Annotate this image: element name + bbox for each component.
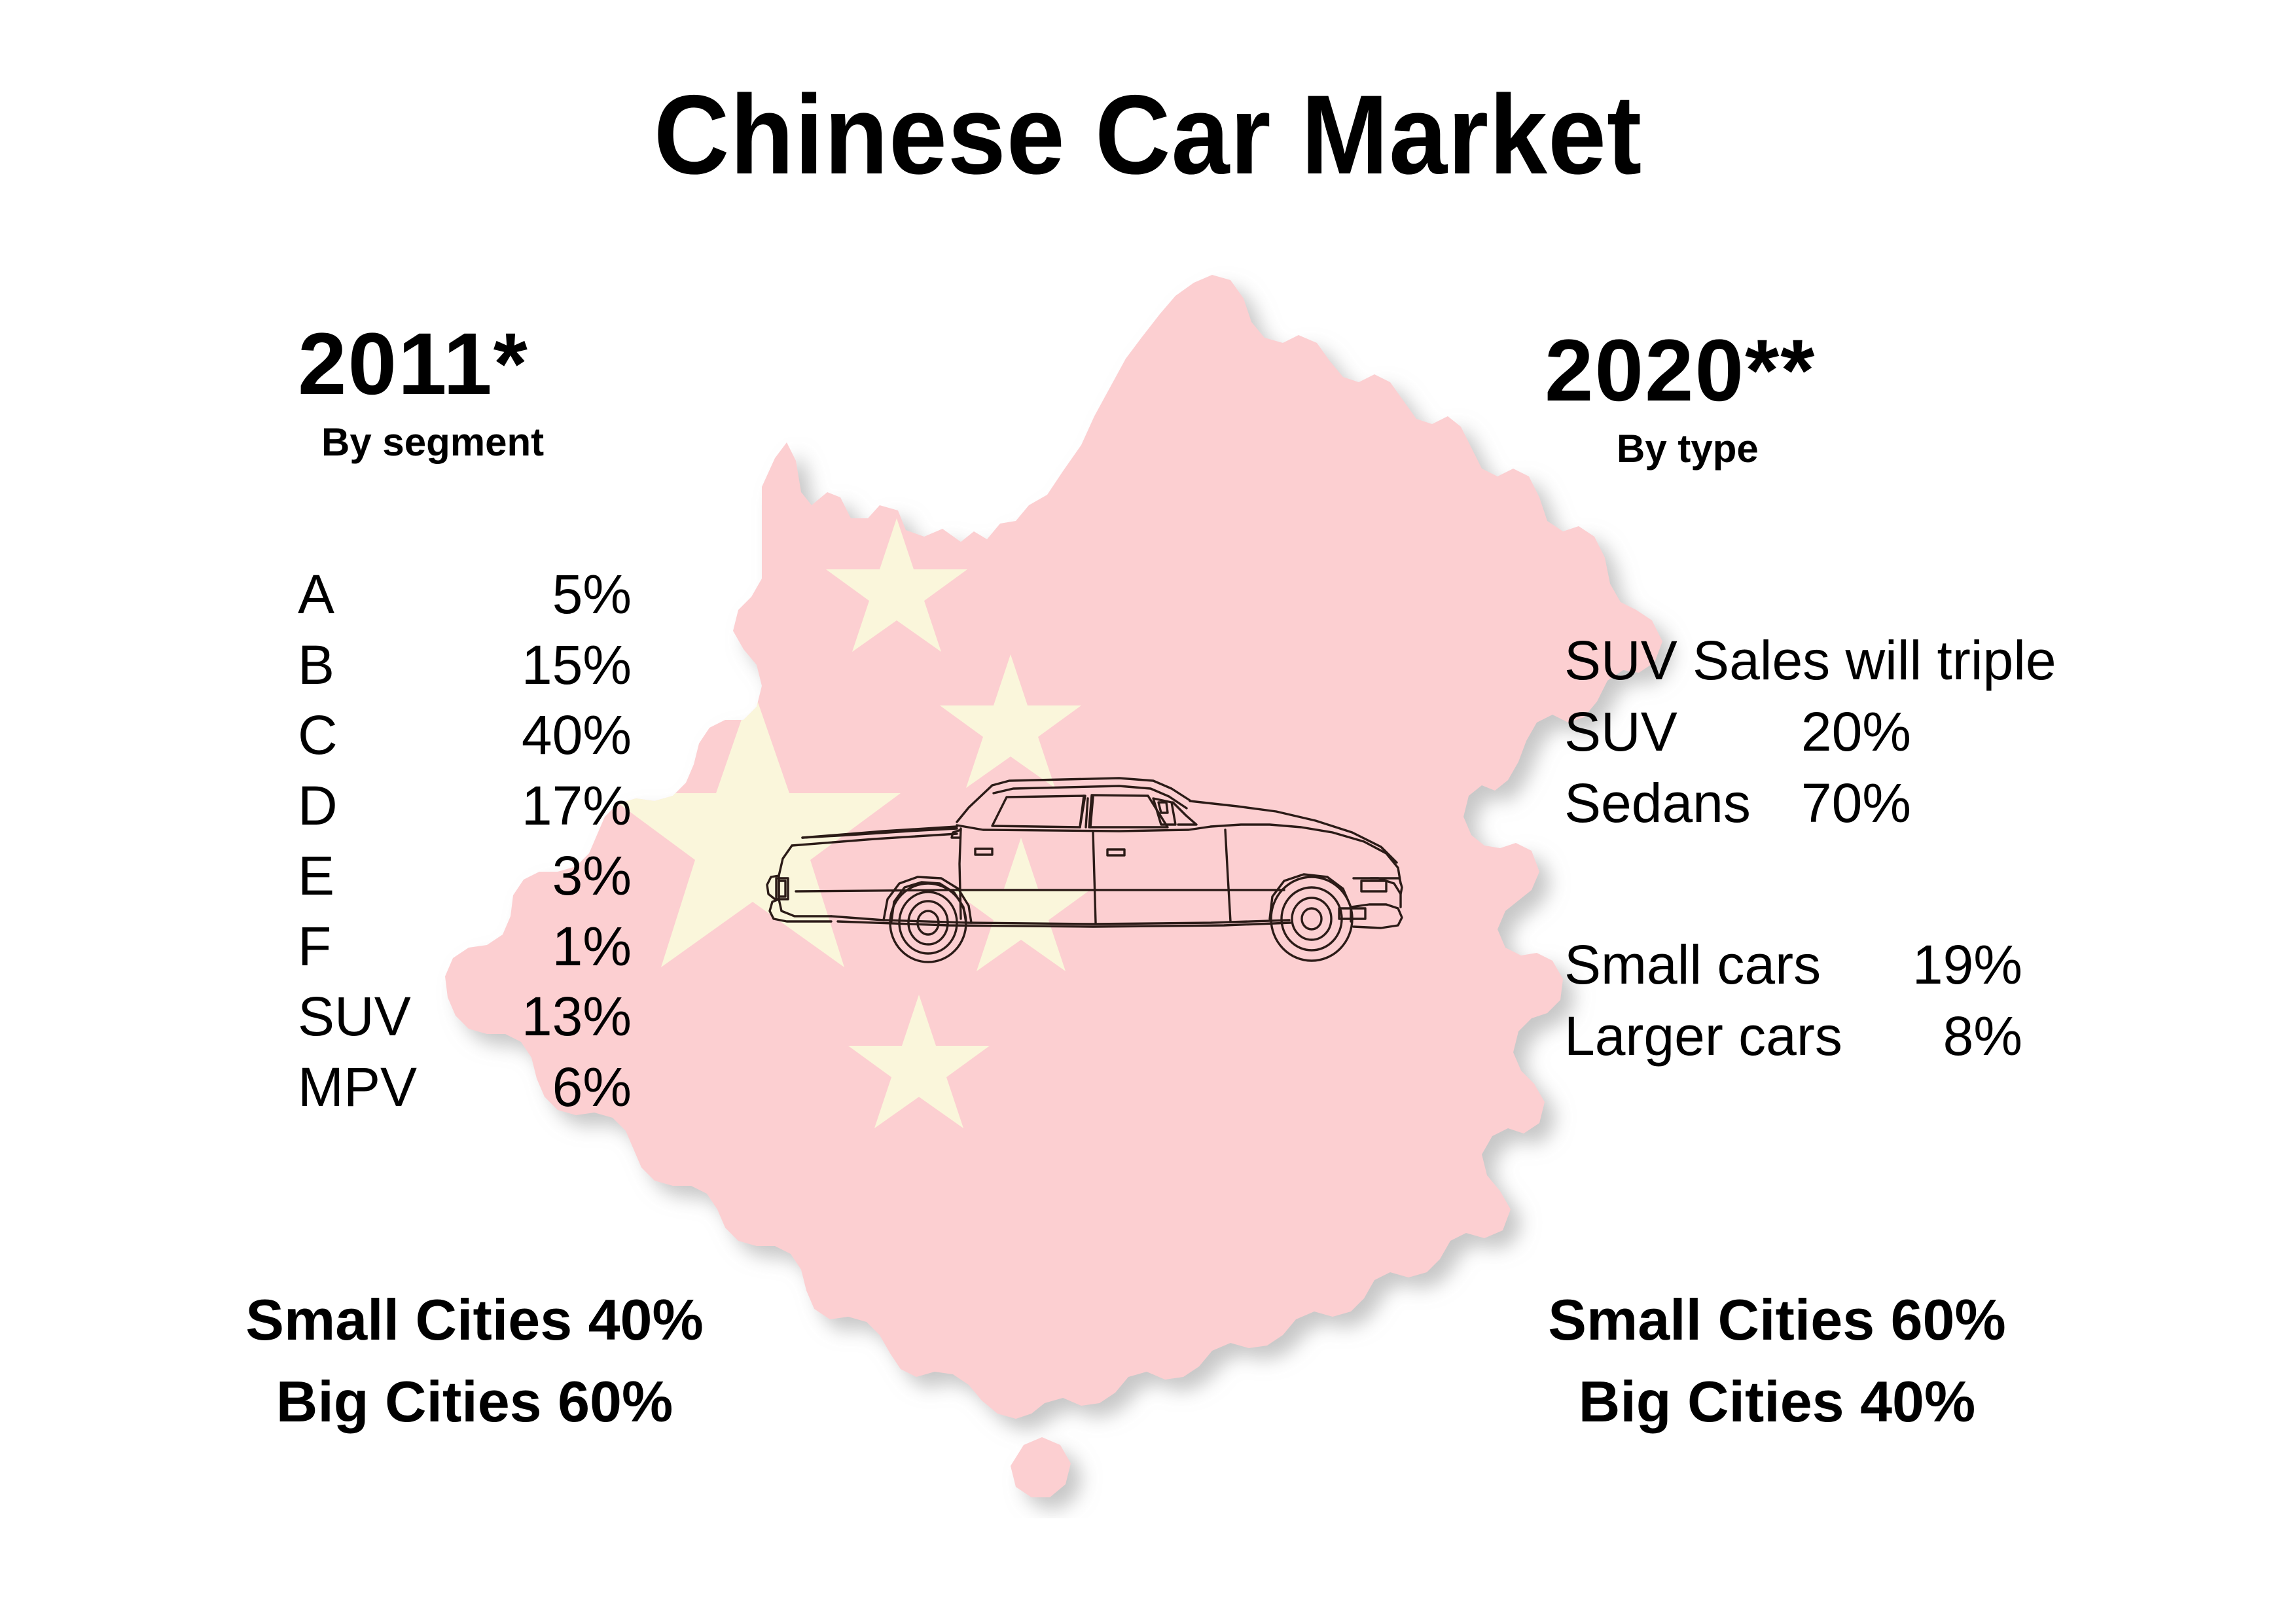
segment-table: A 5% B 15% C 40% D 17% E 3% F 1% SUV 13%… [298,560,651,1122]
page-title: Chinese Car Market [81,79,2215,191]
segment-label: C [298,700,465,771]
type-value: 19% [1872,929,2022,1001]
year-label-2020: 2020** [1545,327,2081,415]
segment-value: 1% [465,912,632,982]
table-row: F 1% [298,912,651,982]
segment-label: E [298,841,465,912]
type-label: Small cars [1564,929,1872,1001]
table-row: C 40% [298,700,651,771]
footer-big-cities-2011: Big Cities 60% [203,1361,746,1443]
table-row: Larger cars 8% [1564,1001,2022,1072]
segment-label: A [298,560,465,630]
table-row: SUV 20% [1564,696,2056,768]
subhead-by-type: By type [1545,429,2081,469]
type-value: 70% [1761,768,1911,839]
infographic-canvas: Chinese Car Market [0,0,2296,1623]
subhead-by-segment: By segment [298,423,782,462]
segment-label: F [298,912,465,982]
type-label: Larger cars [1564,1001,1872,1072]
table-row: MPV 6% [298,1052,651,1123]
segment-value: 17% [465,771,632,842]
segment-value: 3% [465,841,632,912]
segment-value: 40% [465,700,632,771]
table-row: B 15% [298,630,651,701]
table-row: Small cars 19% [1564,929,2022,1001]
segment-label: SUV [298,982,465,1052]
table-row: Sedans 70% [1564,768,2056,839]
panel-2020: 2020** By type [1545,327,2081,469]
segment-value: 6% [465,1052,632,1123]
segment-value: 5% [465,560,632,630]
table-row: E 3% [298,841,651,912]
hainan-island [1011,1437,1071,1497]
sedan-line-art-icon [753,759,1466,969]
table-row: D 17% [298,771,651,842]
footer-big-cities-2020: Big Cities 40% [1505,1361,2049,1443]
segment-label: D [298,771,465,842]
type-value: 20% [1761,696,1911,768]
segment-label: MPV [298,1052,465,1123]
type-value: 8% [1872,1001,2022,1072]
type-label: Sedans [1564,768,1761,839]
table-row: A 5% [298,560,651,630]
type-label: SUV [1564,696,1761,768]
table-row: SUV 13% [298,982,651,1052]
type-list-secondary: Small cars 19% Larger cars 8% [1564,929,2022,1072]
footer-small-cities-2011: Small Cities 40% [203,1279,746,1361]
segment-label: B [298,630,465,701]
footer-small-cities-2020: Small Cities 60% [1505,1279,2049,1361]
segment-value: 15% [465,630,632,701]
type-list-primary: SUV Sales will triple SUV 20% Sedans 70% [1564,625,2056,840]
footer-right: Small Cities 60% Big Cities 40% [1505,1279,2049,1443]
segment-value: 13% [465,982,632,1052]
footer-left: Small Cities 40% Big Cities 60% [203,1279,746,1443]
suv-growth-note: SUV Sales will triple [1564,625,2056,696]
year-label-2011: 2011* [298,321,782,408]
panel-2011: 2011* By segment [298,321,782,462]
